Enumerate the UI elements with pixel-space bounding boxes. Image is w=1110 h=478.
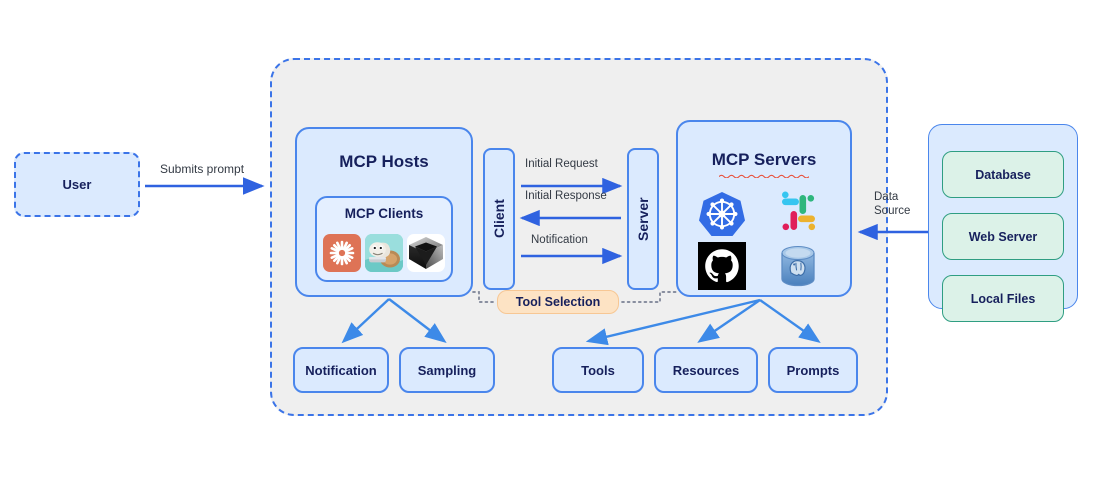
slack-icon[interactable] xyxy=(774,190,822,238)
edge-label-notification: Notification xyxy=(531,234,588,246)
data-source-local-files-label: Local Files xyxy=(971,292,1036,306)
claude-icon[interactable] xyxy=(323,234,361,272)
tool-selection-label: Tool Selection xyxy=(516,295,601,309)
user-node[interactable]: User xyxy=(14,152,140,217)
edge-label-data-source-line1: Data xyxy=(874,190,928,204)
mcp-clients-title: MCP Clients xyxy=(315,206,453,221)
zed-icon[interactable] xyxy=(407,234,445,272)
mcp-client-icon-row xyxy=(315,231,453,275)
github-icon[interactable] xyxy=(698,242,746,290)
data-source-database-label: Database xyxy=(975,168,1031,182)
edge-label-initial-request: Initial Request xyxy=(525,158,598,170)
edge-label-data-source: Data Source xyxy=(874,190,928,218)
diagram-canvas: User Submits prompt MCP Hosts MCP Client… xyxy=(0,0,1110,478)
output-notification-label: Notification xyxy=(305,363,377,378)
output-prompts-label: Prompts xyxy=(787,363,840,378)
output-resources-label: Resources xyxy=(673,363,739,378)
tool-selection-badge[interactable]: Tool Selection xyxy=(497,290,619,314)
output-tools[interactable]: Tools xyxy=(552,347,644,393)
data-source-database[interactable]: Database xyxy=(942,151,1064,198)
edge-label-data-source-line2: Source xyxy=(874,204,928,218)
output-resources[interactable]: Resources xyxy=(654,347,758,393)
client-node[interactable]: Client xyxy=(483,148,515,290)
server-node[interactable]: Server xyxy=(627,148,659,290)
output-notification[interactable]: Notification xyxy=(293,347,389,393)
output-sampling[interactable]: Sampling xyxy=(399,347,495,393)
kubernetes-icon[interactable] xyxy=(698,190,746,238)
data-source-web-server-label: Web Server xyxy=(969,230,1038,244)
postgresql-icon[interactable] xyxy=(774,242,822,290)
mcp-hosts-title: MCP Hosts xyxy=(295,152,473,172)
spellcheck-underline xyxy=(719,174,809,178)
edge-label-submits-prompt: Submits prompt xyxy=(160,162,244,176)
client-label: Client xyxy=(485,150,513,288)
output-tools-label: Tools xyxy=(581,363,615,378)
data-source-web-server[interactable]: Web Server xyxy=(942,213,1064,260)
mcp-server-icon-grid xyxy=(691,190,841,290)
output-sampling-label: Sampling xyxy=(418,363,477,378)
mcp-servers-title: MCP Servers xyxy=(676,150,852,170)
edge-label-initial-response: Initial Response xyxy=(525,190,607,202)
server-label: Server xyxy=(629,150,657,288)
user-label: User xyxy=(63,177,92,192)
output-prompts[interactable]: Prompts xyxy=(768,347,858,393)
goose-icon[interactable] xyxy=(365,234,403,272)
data-source-local-files[interactable]: Local Files xyxy=(942,275,1064,322)
